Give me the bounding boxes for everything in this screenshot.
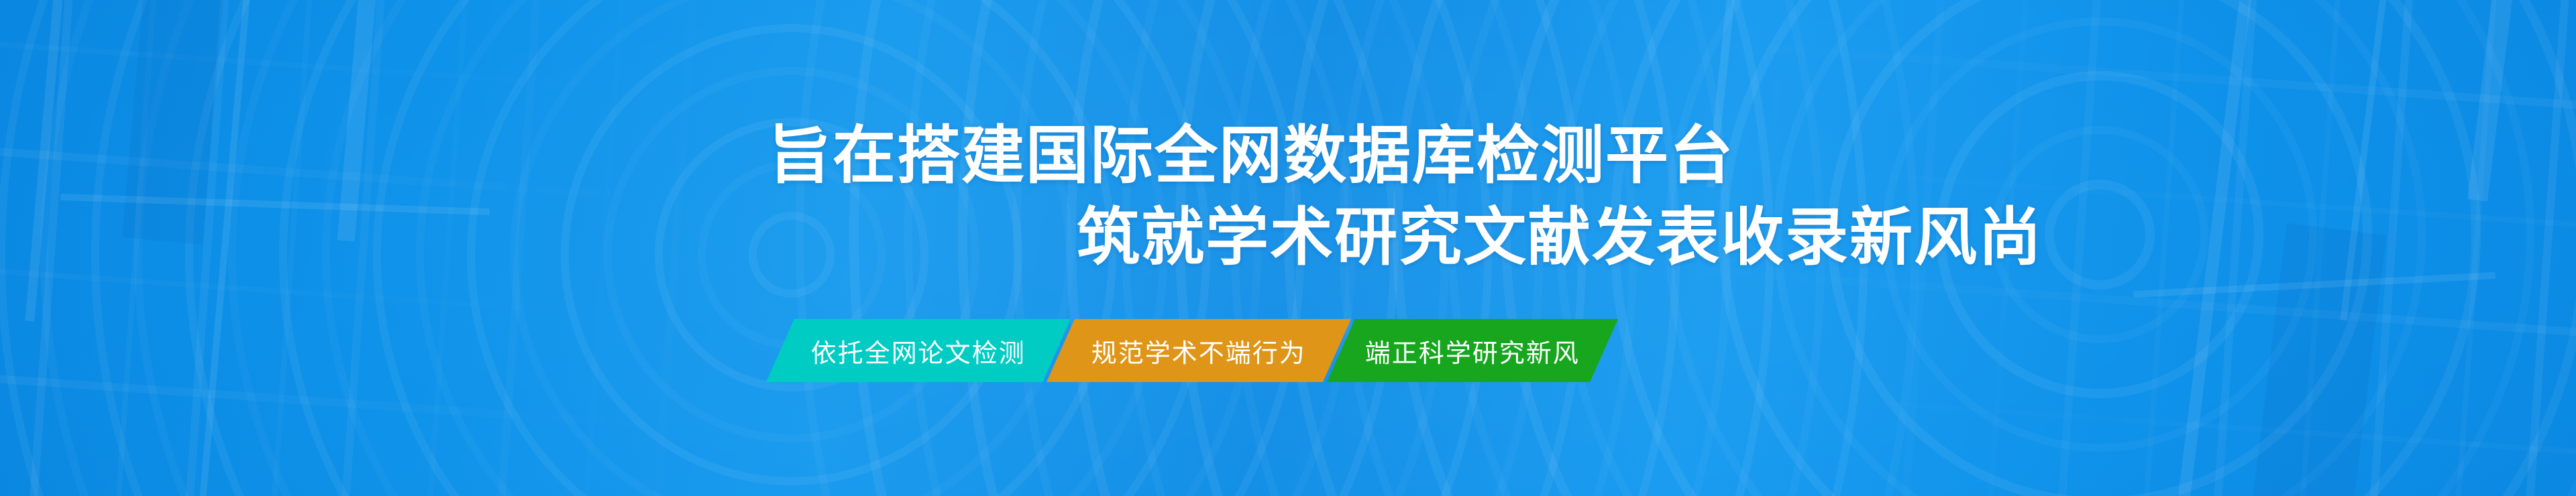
- headline: 旨在搭建国际全网数据库检测平台 筑就学术研究文献发表收录新风尚: [768, 119, 2043, 273]
- headline-line-2: 筑就学术研究文献发表收录新风尚: [1077, 201, 2043, 273]
- feature-tag-label: 依托全网论文检测: [811, 332, 1026, 369]
- feature-tag-strip: 依托全网论文检测 规范学术不端行为 端正科学研究新风: [780, 319, 1604, 382]
- banner-content: 旨在搭建国际全网数据库检测平台 筑就学术研究文献发表收录新风尚 依托全网论文检测…: [0, 0, 2576, 496]
- feature-tag-label: 端正科学研究新风: [1365, 332, 1580, 369]
- feature-tag-label: 规范学术不端行为: [1091, 332, 1306, 369]
- feature-tag-plagiarism-check[interactable]: 依托全网论文检测: [766, 319, 1071, 382]
- headline-line-1: 旨在搭建国际全网数据库检测平台: [768, 119, 2043, 192]
- feature-tag-research-integrity[interactable]: 端正科学研究新风: [1327, 319, 1618, 382]
- hero-banner: 旨在搭建国际全网数据库检测平台 筑就学术研究文献发表收录新风尚 依托全网论文检测…: [0, 0, 2576, 496]
- feature-tag-misconduct-regulation[interactable]: 规范学术不端行为: [1046, 319, 1351, 382]
